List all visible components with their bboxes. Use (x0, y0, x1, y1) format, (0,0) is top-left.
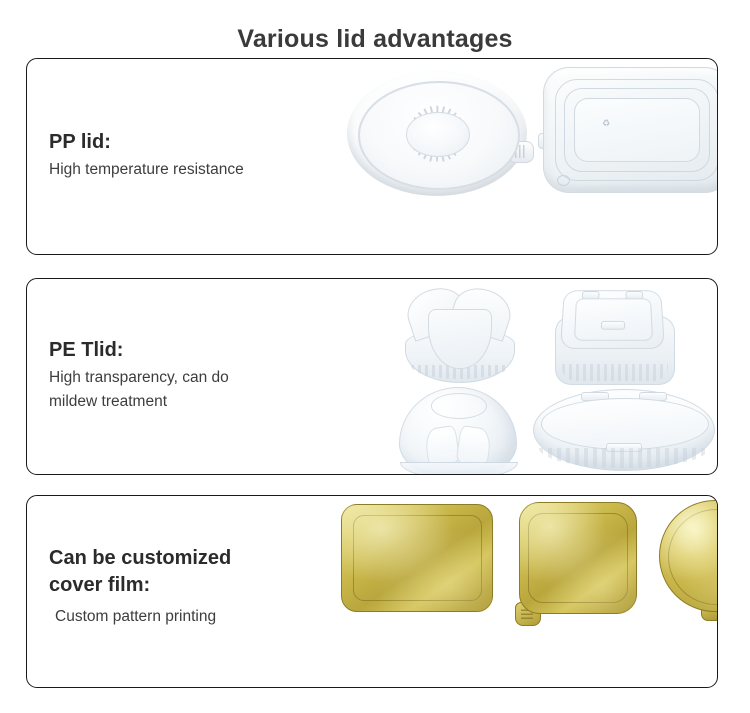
dome-lid-panel-left (423, 425, 460, 467)
round-pp-lid-image (347, 71, 527, 196)
panel-pe-media (337, 279, 717, 474)
dome-lid-panel-right (456, 425, 493, 467)
rect-film-sheen (342, 505, 492, 611)
rect-lid-ridge-inner: ♻ (574, 98, 701, 163)
panel-pe-text-block: PE Tlid: High transparency, can do milde… (49, 339, 349, 415)
page-title: Various lid advantages (0, 25, 750, 54)
panel-pe-heading: PE Tlid: (49, 339, 349, 363)
dome-pe-lid-image (399, 387, 517, 475)
oval-lid-body (533, 389, 715, 471)
rectangular-pp-lid-image: ♻ (543, 67, 718, 193)
oval-pe-lid-image (533, 389, 715, 471)
square-film-sheen (520, 503, 636, 613)
round-film-body (659, 500, 718, 612)
square-gold-film-image (519, 502, 637, 614)
dome-lid-base (400, 462, 518, 475)
dome-lid-top-ring (431, 393, 486, 418)
panel-pp-description: High temperature resistance (49, 158, 349, 182)
oval-lid-inner (541, 398, 709, 450)
square-pe-lid-image (555, 285, 673, 387)
panel-cover-film: Can be customized cover film: Custom pat… (26, 495, 718, 688)
oval-lid-skirt (539, 448, 708, 469)
square-lid-top-inner (574, 299, 654, 341)
panel-pp-text-block: PP lid: High temperature resistance (49, 131, 349, 183)
round-film-sheen (660, 501, 718, 611)
rect-lid-vent (557, 175, 570, 186)
panel-film-media (337, 496, 717, 687)
rect-film-body (341, 504, 493, 612)
panel-film-text-block: Can be customized cover film: Custom pat… (49, 547, 349, 629)
recycle-mark-icon: ♻ (602, 118, 610, 129)
square-film-body (519, 502, 637, 614)
panel-film-heading-line2: cover film: (49, 574, 349, 598)
round-lid-hub (406, 112, 469, 157)
panel-pe-lid: PE Tlid: High transparency, can do milde… (26, 278, 718, 475)
square-lid-top (560, 290, 665, 349)
panel-pp-media: ♻ (337, 59, 717, 254)
rect-lid-body: ♻ (543, 67, 718, 193)
panel-pe-description-line1: High transparency, can do (49, 366, 349, 390)
panel-pp-heading: PP lid: (49, 131, 349, 155)
square-lid-notch-front (601, 321, 625, 330)
heart-pe-lid-image (403, 287, 515, 387)
panel-pp-lid: PP lid: High temperature resistance ♻ (26, 58, 718, 255)
rectangular-gold-film-image (341, 504, 493, 612)
panel-pe-description-line2: mildew treatment (49, 390, 349, 414)
round-gold-film-image (659, 500, 718, 612)
panel-film-heading-line1: Can be customized (49, 547, 349, 571)
panel-film-description: Custom pattern printing (49, 605, 349, 629)
